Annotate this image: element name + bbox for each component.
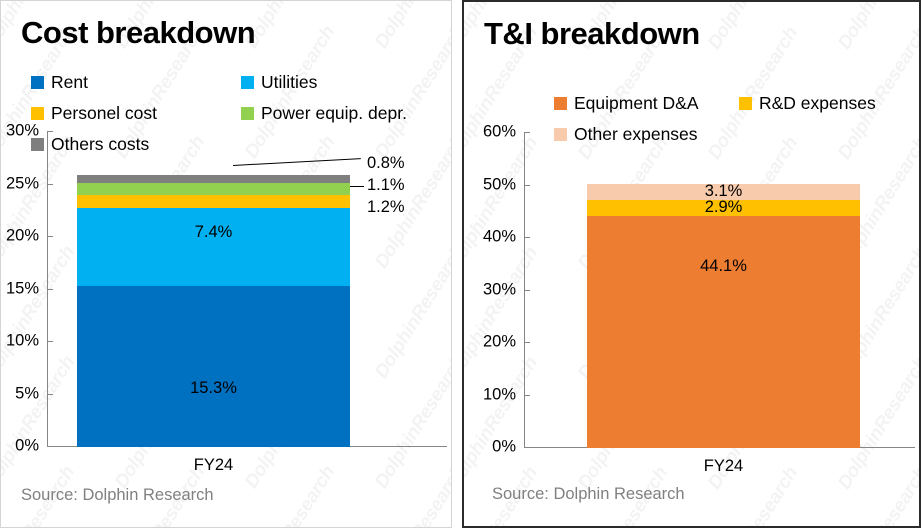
legend-swatch-power-equip-depr (241, 107, 254, 120)
callout-label-power-equip-depr: 1.1% (367, 176, 405, 195)
y-axis-tick-mark (524, 342, 530, 343)
y-axis-tick-mark (524, 132, 530, 133)
bar-segment-equipment-da[interactable]: 44.1% (587, 216, 860, 449)
y-axis-tick-mark (524, 395, 530, 396)
bar-segment-other-expenses[interactable]: 3.1% (587, 184, 860, 200)
leader-line-power-equip-depr (350, 186, 364, 187)
bar-segment-others-costs[interactable] (77, 175, 350, 183)
y-axis-tick-label: 50% (483, 175, 516, 194)
bar-label-equipment-da: 44.1% (587, 257, 860, 276)
legend-label-power-equip-depr: Power equip. depr. (261, 103, 407, 124)
page-title-ti-breakdown: T&I breakdown (484, 16, 700, 52)
x-axis-category-label-left: FY24 (77, 456, 350, 475)
source-note-right: Source: Dolphin Research (492, 485, 685, 504)
y-axis-tick-mark (47, 394, 53, 395)
y-axis-tick-mark (47, 184, 53, 185)
legend-item-utilities[interactable]: Utilities (241, 67, 451, 98)
bar-label-rnd-expenses: 2.9% (587, 198, 860, 217)
y-axis-tick-mark (47, 341, 53, 342)
legend-label-rent: Rent (51, 72, 88, 93)
y-axis-tick-label: 5% (15, 384, 39, 403)
bar-label-other-expenses: 3.1% (587, 182, 860, 201)
watermark-text: DolphinResearch (834, 2, 919, 54)
ti-breakdown-panel: DolphinResearchDolphinResearchDolphinRes… (462, 0, 921, 528)
y-axis-tick-label: 30% (483, 280, 516, 299)
y-axis-tick-label: 25% (6, 174, 39, 193)
plot-area-cost-breakdown: 0%5%10%15%20%25%30% 15.3% 7.4% 0.8% 1.1%… (1, 131, 452, 447)
y-axis-tick-label: 20% (6, 227, 39, 246)
y-axis-tick-label: 20% (483, 333, 516, 352)
y-axis-tick-label: 40% (483, 228, 516, 247)
watermark-text: DolphinResearch (371, 1, 451, 53)
legend-label-equipment-da: Equipment D&A (574, 93, 699, 114)
legend-item-rent[interactable]: Rent (31, 67, 241, 98)
y-axis-tick-label: 60% (483, 123, 516, 142)
y-axis-tick-mark (47, 236, 53, 237)
plot-area-ti-breakdown: 0%10%20%30%40%50%60% 44.1% 2.9% 3.1% (464, 132, 921, 448)
y-axis-tick-mark (524, 185, 530, 186)
y-axis-tick-label: 0% (492, 438, 516, 457)
y-axis-tick-label: 10% (6, 332, 39, 351)
legend-swatch-equipment-da (554, 97, 567, 110)
bar-segment-personel-cost[interactable] (77, 195, 350, 208)
bar-label-utilities: 7.4% (77, 223, 350, 242)
bar-segment-rent[interactable]: 15.3% (77, 286, 350, 447)
legend-item-equipment-da[interactable]: Equipment D&A (554, 88, 739, 119)
legend-item-other-expenses[interactable]: Other expenses (554, 119, 739, 150)
y-axis-tick-mark (524, 237, 530, 238)
legend-swatch-other-expenses (554, 128, 567, 141)
legend-cost-breakdown: Rent Utilities Personel cost Power equip… (31, 67, 451, 160)
legend-swatch-rnd-expenses (739, 97, 752, 110)
legend-label-personel-cost: Personel cost (51, 103, 157, 124)
watermark-text: DolphinResearch (371, 462, 451, 527)
bar-segment-power-equip-depr[interactable] (77, 183, 350, 195)
x-axis-category-label-right: FY24 (587, 457, 860, 476)
y-axis-tick-label: 0% (15, 437, 39, 456)
legend-ti-breakdown: Equipment D&A R&D expenses Other expense… (554, 88, 921, 150)
legend-item-personel-cost[interactable]: Personel cost (31, 98, 241, 129)
legend-label-others-costs: Others costs (51, 134, 149, 155)
legend-swatch-utilities (241, 76, 254, 89)
legend-swatch-others-costs (31, 138, 44, 151)
watermark-text: DolphinResearch (241, 1, 340, 53)
y-axis-tick-label: 10% (483, 385, 516, 404)
callout-label-personel-cost: 1.2% (367, 198, 405, 217)
legend-item-power-equip-depr[interactable]: Power equip. depr. (241, 98, 451, 129)
legend-item-rnd-expenses[interactable]: R&D expenses (739, 88, 921, 119)
dual-chart-figure: DolphinResearchDolphinResearchDolphinRes… (0, 0, 921, 528)
bar-stack-fy24-cost[interactable]: 15.3% 7.4% (77, 175, 350, 447)
bar-segment-rnd-expenses[interactable]: 2.9% (587, 200, 860, 215)
legend-label-utilities: Utilities (261, 72, 317, 93)
y-axis-tick-label: 15% (6, 279, 39, 298)
legend-swatch-personel-cost (31, 107, 44, 120)
cost-breakdown-panel: DolphinResearchDolphinResearchDolphinRes… (0, 0, 452, 528)
legend-item-others-costs[interactable]: Others costs (31, 129, 241, 160)
legend-label-other-expenses: Other expenses (574, 124, 698, 145)
y-axis-tick-mark (47, 289, 53, 290)
page-title-cost-breakdown: Cost breakdown (21, 15, 255, 51)
bar-segment-utilities[interactable]: 7.4% (77, 208, 350, 286)
y-axis-tick-mark (524, 290, 530, 291)
bar-stack-fy24-ti[interactable]: 44.1% 2.9% 3.1% (587, 184, 860, 448)
legend-label-rnd-expenses: R&D expenses (759, 93, 876, 114)
bar-label-rent: 15.3% (77, 379, 350, 398)
watermark-text: DolphinResearch (704, 2, 803, 54)
source-note-left: Source: Dolphin Research (21, 486, 214, 505)
legend-swatch-rent (31, 76, 44, 89)
